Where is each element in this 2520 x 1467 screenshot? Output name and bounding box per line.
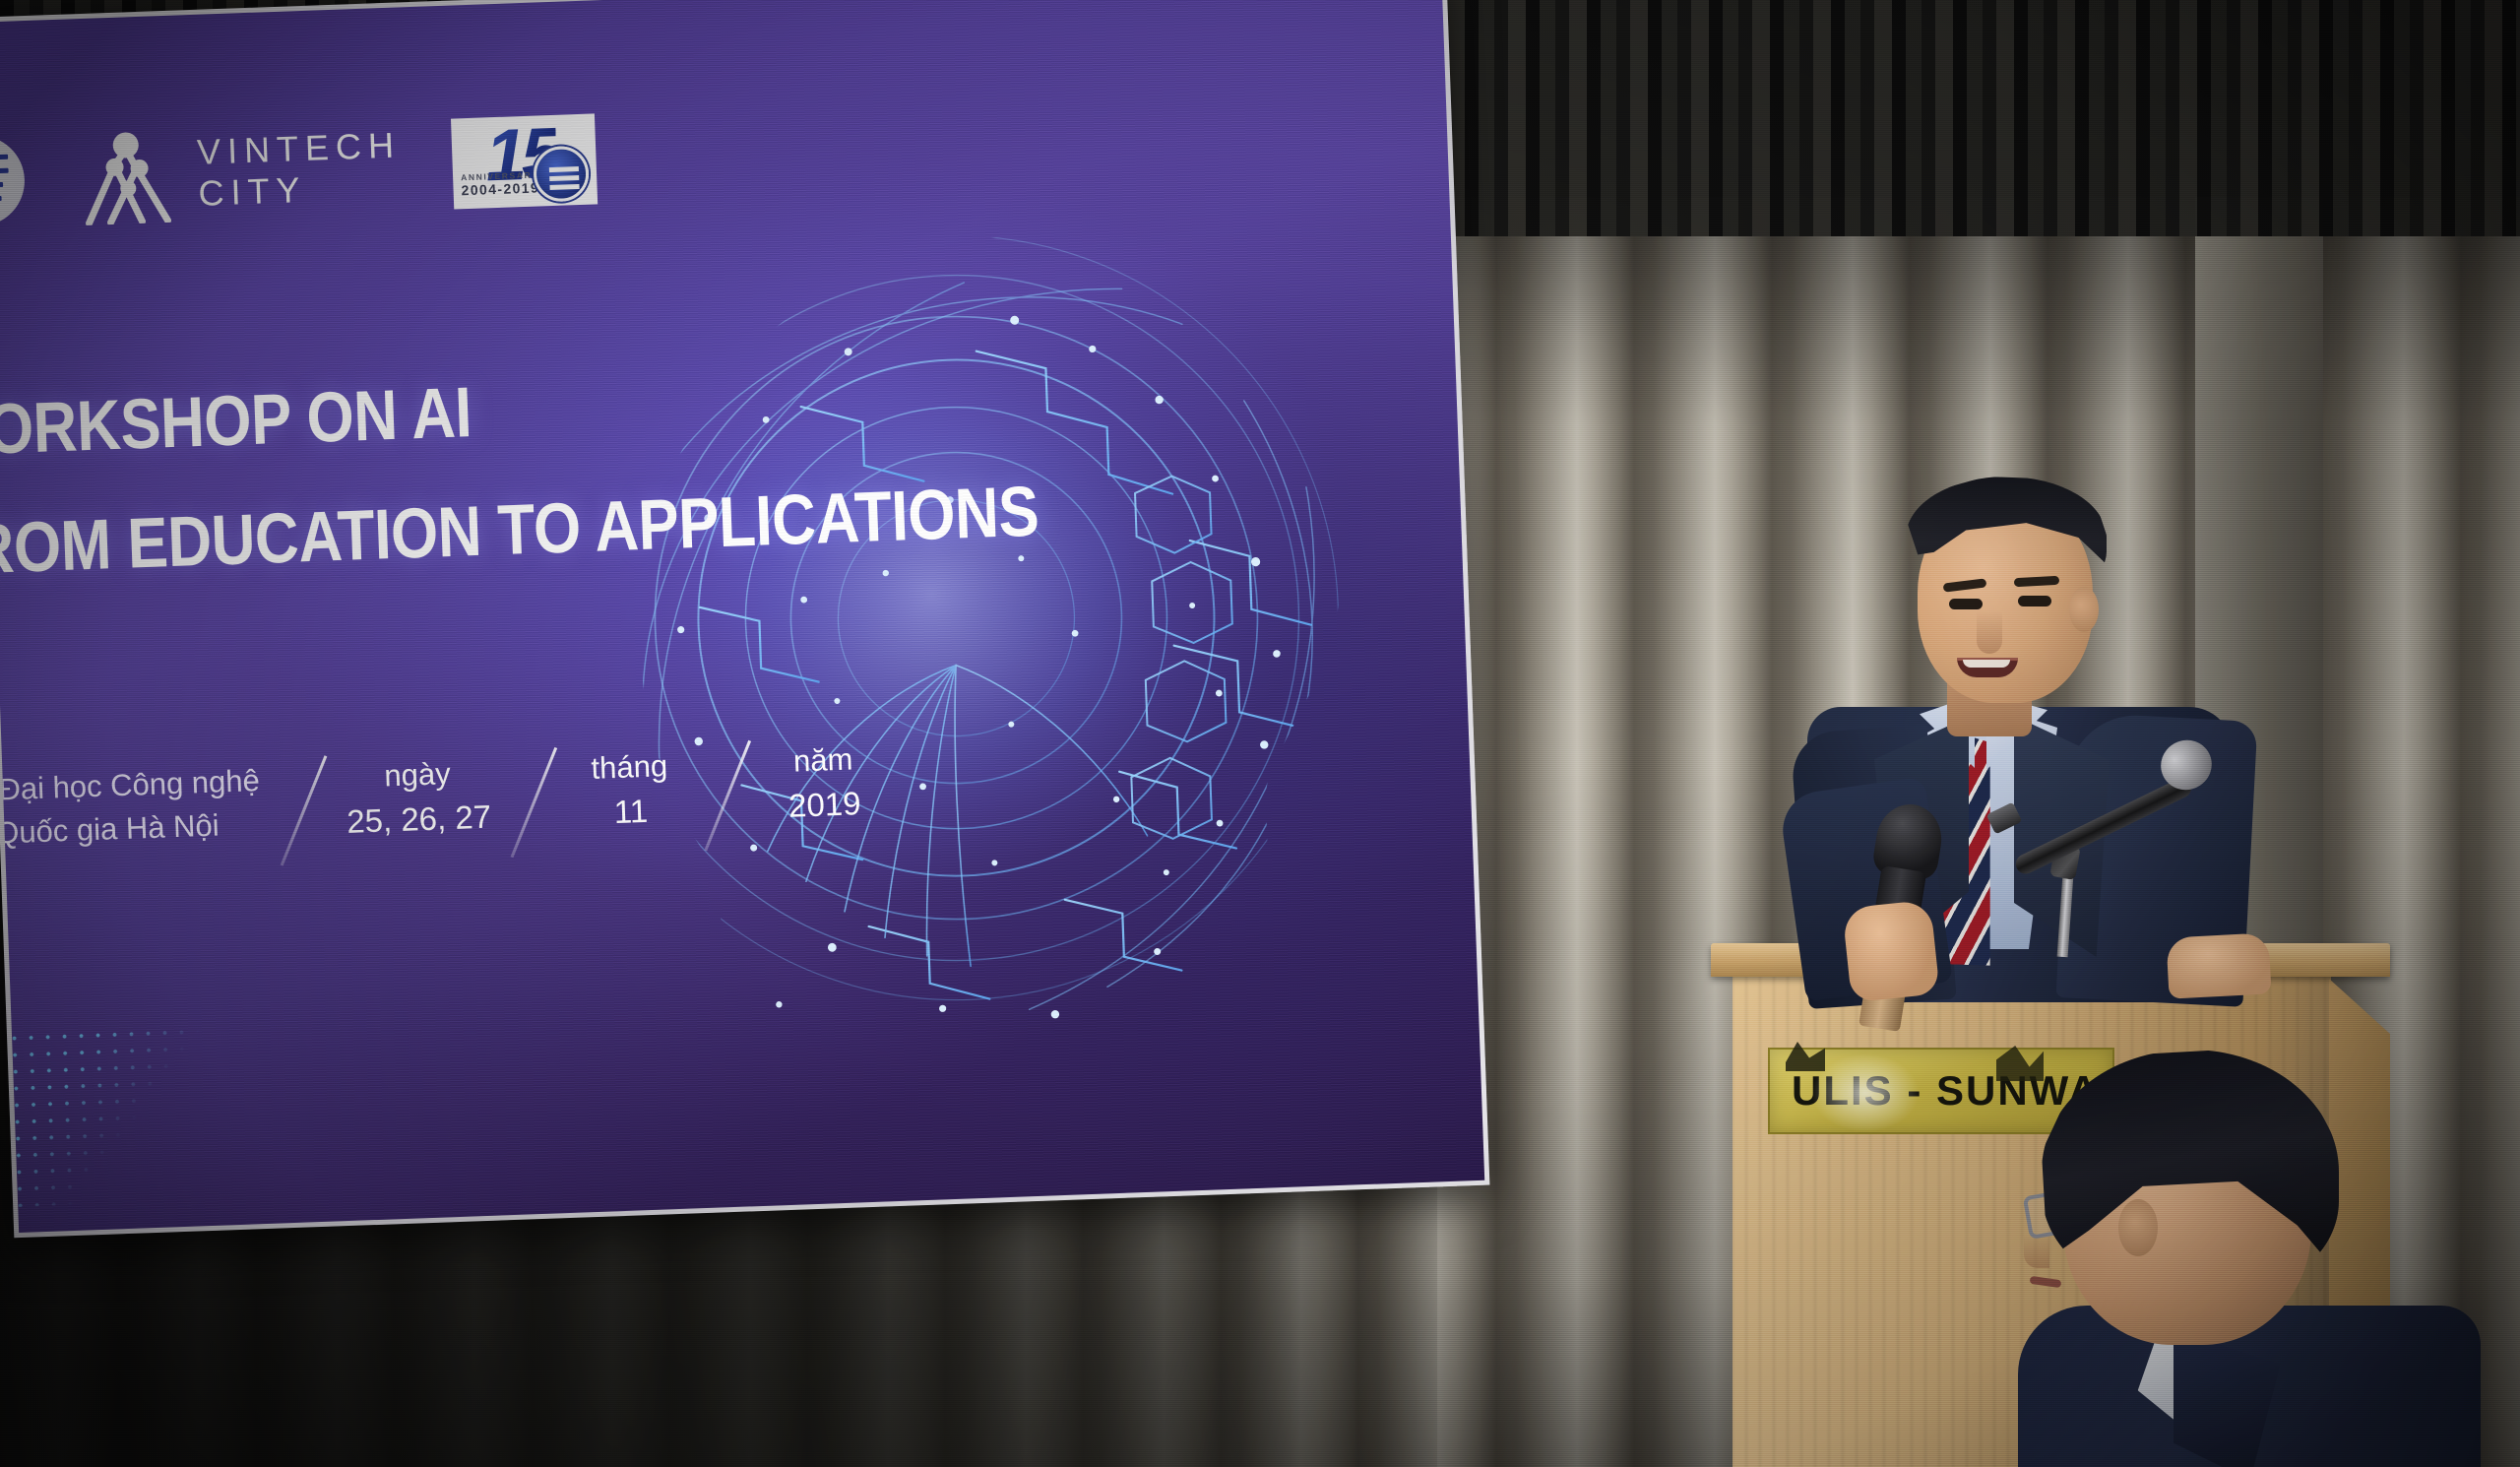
presentation-slide: inAi xyxy=(0,0,1484,1233)
organizer-line2: học Quốc gia Hà Nội xyxy=(0,802,262,858)
year-value: 2019 xyxy=(770,781,880,831)
vintech-city-logo: VINTECH CITY xyxy=(74,117,403,225)
anniversary-seal-icon xyxy=(533,146,590,203)
attendee-mouth xyxy=(2030,1276,2062,1288)
month-value: 11 xyxy=(576,788,686,838)
speaker-nose xyxy=(1977,610,2002,654)
day-label: ngày xyxy=(345,751,490,799)
vintech-line1: VINTECH xyxy=(196,125,401,173)
anniversary-logo: 15 ANNIVERSARY 2004-2019 xyxy=(451,113,598,209)
slide-title-line1: WORKSHOP ON AI xyxy=(0,357,1036,470)
anniversary-years: 2004-2019 xyxy=(461,179,539,198)
speaker-hand-left xyxy=(1842,900,1940,1003)
podium-microphone-stand xyxy=(2013,750,2308,957)
vintech-wordmark: VINTECH CITY xyxy=(196,125,403,215)
vintech-line2: CITY xyxy=(198,165,403,214)
projection-screen: inAi xyxy=(0,0,1489,1238)
ai-head-network-graphic xyxy=(547,159,1447,1154)
date-field-year: năm 2019 xyxy=(768,737,879,831)
vinai-logo: inAi xyxy=(0,134,27,227)
mic-boom-arm xyxy=(2012,775,2194,877)
separator-slash-1 xyxy=(281,755,328,865)
attendee-ear xyxy=(2118,1199,2158,1256)
speaker-eye-right xyxy=(2018,596,2051,606)
speaker-teeth xyxy=(1963,660,2010,668)
attendee-nose xyxy=(2024,1235,2049,1268)
date-field-day: ngày 25, 26, 27 xyxy=(345,751,492,846)
slide-organizer: ờng Đại học Công nghệ học Quốc gia Hà Nộ… xyxy=(0,759,262,858)
vintech-mark-icon xyxy=(74,126,179,226)
screen-frame: inAi xyxy=(0,0,1489,1238)
seated-attendee xyxy=(2008,1042,2481,1467)
separator-slash-2 xyxy=(510,747,557,858)
day-value: 25, 26, 27 xyxy=(346,795,491,846)
slide-logo-row: inAi xyxy=(0,110,598,230)
separator-slash-3 xyxy=(704,740,751,851)
date-field-month: tháng 11 xyxy=(575,744,686,838)
nameplate-glare xyxy=(1811,1053,1920,1132)
conference-photo-scene: inAi xyxy=(0,0,2520,1467)
speaker-eye-left xyxy=(1949,599,1983,609)
corner-dot-grid xyxy=(6,1021,258,1207)
speaker-ear xyxy=(2069,587,2099,632)
year-label: năm xyxy=(768,737,878,785)
month-label: tháng xyxy=(575,744,685,792)
